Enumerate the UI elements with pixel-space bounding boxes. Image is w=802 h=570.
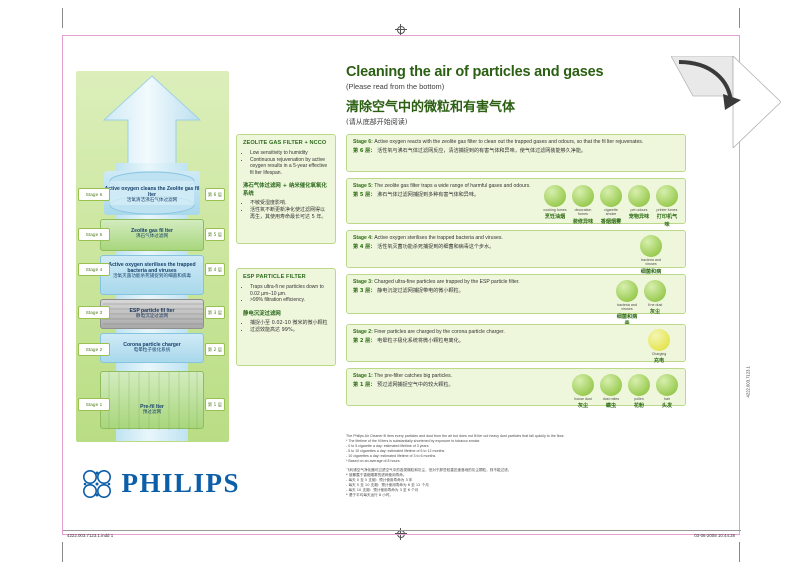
plate-label-cn-1: 预过滤网: [101, 410, 203, 415]
hair-icon: [656, 374, 678, 396]
stage-5-text-cn: 沸石气体过滤网捕捉到多种有害气体和异味。: [377, 192, 479, 198]
plate-label-cn-4: 活氧灭菌功能杀死捕捉到的细菌和病毒: [101, 274, 203, 279]
stage-1-cn: 第 1 层： 预过滤网捕捉空气中的较大颗粒。: [353, 382, 558, 390]
stage-4-number-en: Stage 4:: [353, 235, 373, 241]
stage-3-icons: bacteria and viruses细菌和病毒 fi ne dust灰尘: [615, 280, 667, 329]
icon-caption: dust mites螨虫: [599, 397, 623, 411]
stage-box-3: Stage 3: Charged ultra-fine particles ar…: [346, 274, 686, 314]
stage-3-text-en: Charged ultra-fine particles are trapped…: [374, 279, 519, 285]
philips-wordmark: PHILIPS: [121, 468, 240, 498]
icon-cell: cigarette smoke香烟烟雾: [599, 185, 623, 230]
cigarette-smoke-icon: [600, 185, 622, 207]
fine-dust-icon: [644, 280, 666, 302]
bacteria-viruses-icon: [640, 235, 662, 257]
callout-title-esp: ESP PARTICLE FILTER: [243, 274, 329, 280]
stage-6-text-cn: 活性氧与沸石气体过滤网反应，清洁捕捉到的有害气体和异味，使气体过滤网装能够久净能…: [377, 148, 586, 154]
icon-cell: cooking fumes烹饪油烟: [543, 185, 567, 230]
house-dust-icon: [572, 374, 594, 396]
crop-mark-top-left: [62, 8, 63, 28]
stage-2-number-en: Stage 2:: [353, 329, 373, 335]
print-date: 03-06-2008 10:44:28: [694, 533, 735, 538]
list-item: 捕捉小至 0.02-10 微米的微小颗粒: [250, 320, 329, 327]
icon-caption: hair头发: [655, 397, 679, 411]
stage-2-cn: 第 2 层： 电晕粒子极化系统将微小颗粒电离化。: [353, 338, 643, 346]
stage-button-1[interactable]: Stage 1: [78, 398, 110, 411]
philips-logo: PHILIPS: [81, 468, 271, 499]
icon-caption: pet odours宠物异味: [627, 208, 651, 222]
crop-mark-bottom-left: [62, 542, 63, 562]
list-item: >99% filtration efficiency.: [250, 297, 329, 304]
icon-cell: pollen花粉: [627, 374, 651, 411]
stage-box-5: Stage 5: The zeolite gas filter traps a …: [346, 178, 686, 224]
stage-5-cn: 第 5 层： 沸石气体过滤网捕捉到多种有害气体和异味。: [353, 192, 563, 200]
page-fold-decoration: [671, 56, 781, 148]
footnote-line-cn: * 基于平均每天运行 8 小时。: [346, 493, 686, 498]
page-title: Cleaning the air of particles and gases: [346, 64, 691, 80]
icon-caption: fi ne dust灰尘: [643, 303, 667, 317]
list-item: Low sensitivity to humidity: [250, 150, 329, 157]
stage-5-number-cn: 第 5 层：: [353, 192, 375, 198]
stage-6-number-en: Stage 6:: [353, 139, 373, 145]
callout-bullets-zeolite-en: Low sensitivity to humidity Continuous r…: [243, 150, 329, 176]
callout-bullets-zeolite-cn: 不敏受湿度影响. 活性氧不断更新净化使过滤网得以再生，其使用寿命最长可达 5 年…: [243, 200, 329, 221]
stage-box-6: Stage 6: Active oxygen reacts with the z…: [346, 134, 686, 172]
icon-cell: decoration fumes装修异味: [571, 185, 595, 230]
callout-title-zeolite: ZEOLITE GAS FILTER + NCCO: [243, 140, 329, 146]
plate-label-cn-2: 电晕粒子极化系统: [101, 348, 203, 353]
footnotes: The Philips Air Cleaner fil lters every …: [346, 434, 686, 498]
stage-2-en: Stage 2: Finer particles are charged by …: [353, 329, 643, 336]
stage-2-text-en: Finer particles are charged by the coron…: [374, 329, 505, 335]
icon-cell: hair头发: [655, 374, 679, 411]
page-subtitle: (Please read from the bottom): [346, 82, 691, 91]
callout-title-zeolite-cn: 沸石气体过滤网 + 纳米催化氧氧化系统: [243, 181, 329, 197]
print-sheet: Active oxygen cleans the Zeolite gas fil…: [0, 0, 802, 570]
stage-2-icons: Charging充电: [647, 329, 671, 366]
list-item: Continuous rejuvenation by active oxygen…: [250, 157, 329, 177]
stage-box-2: Stage 2: Finer particles are charged by …: [346, 324, 686, 362]
stage-4-text-en: Active oxygen sterilises the trapped bac…: [374, 235, 503, 241]
stage-button-cn-1[interactable]: 第 1 层: [205, 398, 225, 411]
dust-mites-icon: [600, 374, 622, 396]
plate-label-cn-3: 静电沉淀过滤网: [101, 314, 203, 319]
stage-button-cn-6[interactable]: 第 6 层: [205, 188, 225, 201]
stage-4-number-cn: 第 4 层：: [353, 244, 375, 250]
airflow-arrow-icon: [100, 74, 204, 174]
crop-mark-top-right: [739, 8, 740, 28]
stage-button-2[interactable]: Stage 2: [78, 343, 110, 356]
stage-button-4[interactable]: Stage 4: [78, 263, 110, 276]
bacteria-viruses-icon: [616, 280, 638, 302]
callout-title-esp-cn: 静电沉淀过滤网: [243, 309, 329, 317]
stage-1-en: Stage 1: The pre-filter catches big part…: [353, 373, 558, 380]
icon-cell: bacteria and viruses细菌和病毒: [615, 280, 639, 329]
stage-button-cn-4[interactable]: 第 4 层: [205, 263, 225, 276]
stage-button-5[interactable]: Stage 5: [78, 228, 110, 241]
print-rule: [63, 530, 741, 531]
callout-zeolite-cn: 沸石气体过滤网 + 纳米催化氧氧化系统 不敏受湿度影响. 活性氧不断更新净化使过…: [243, 181, 329, 221]
stage-6-en: Stage 6: Active oxygen reacts with the z…: [353, 139, 679, 146]
stage-1-icons: house dust灰尘 dust mites螨虫 pollen花粉 hair头…: [571, 374, 679, 411]
stage-3-number-cn: 第 3 层：: [353, 288, 375, 294]
callout-bullets-esp-en: Traps ultra-fi ne particles down to 0.02…: [243, 284, 329, 304]
stage-button-cn-5[interactable]: 第 5 层: [205, 228, 225, 241]
icon-caption: cigarette smoke香烟烟雾: [599, 208, 623, 226]
icon-cell: Charging充电: [647, 329, 671, 366]
stage-2-number-cn: 第 2 层：: [353, 338, 375, 344]
decoration-fumes-icon: [572, 185, 594, 207]
stage-4-en: Stage 4: Active oxygen sterilises the tr…: [353, 235, 603, 242]
page-subtitle-cn: (请从底部开始阅读): [346, 117, 691, 127]
stage-5-number-en: Stage 5:: [353, 183, 373, 189]
filter-plate-stage2: Corona particle charger 电晕粒子极化系统: [100, 333, 204, 363]
icon-caption: cooking fumes烹饪油烟: [543, 208, 567, 222]
pollen-icon: [628, 374, 650, 396]
stage-button-cn-3[interactable]: 第 3 层: [205, 306, 225, 319]
pet-odours-icon: [628, 185, 650, 207]
stage-button-6[interactable]: Stage 6: [78, 188, 110, 201]
plate-label-en-6: Active oxygen cleans the Zeolite gas fil…: [104, 186, 200, 198]
cooking-fumes-icon: [544, 185, 566, 207]
print-side-code: 4222.003.7123.1: [745, 366, 750, 397]
filter-stack-panel: Active oxygen cleans the Zeolite gas fil…: [76, 71, 229, 442]
plate-label-cn-5: 沸石气体过滤网: [101, 234, 203, 239]
stage-4-text-cn: 活性氧灭菌功能杀死捕捉到的细菌和病毒这个步水。: [377, 244, 494, 250]
list-item: 活性氧不断更新净化使过滤网得以再生，其使用寿命最长可达 5 年。: [250, 207, 329, 221]
callout-esp: ESP PARTICLE FILTER Traps ultra-fi ne pa…: [236, 268, 336, 366]
icon-caption: pollen花粉: [627, 397, 651, 411]
stage-1-number-en: Stage 1:: [353, 373, 373, 379]
icon-caption: house dust灰尘: [571, 397, 595, 411]
page-title-cn: 清除空气中的微粒和有害气体: [346, 96, 691, 115]
print-file-name: 4222.003.7123.1.indd 1: [67, 533, 113, 538]
icon-caption: printer fumes打印机气味: [655, 208, 679, 230]
stage-5-en: Stage 5: The zeolite gas filter traps a …: [353, 183, 563, 190]
filter-plate-stage6: Active oxygen cleans the Zeolite gas fil…: [104, 171, 200, 215]
icon-cell: fi ne dust灰尘: [643, 280, 667, 329]
stage-6-number-cn: 第 6 层：: [353, 148, 375, 154]
filter-plate-stage5: Zeolite gas fil lter 沸石气体过滤网: [100, 219, 204, 251]
filter-plate-stage4: Active oxygen sterilises the trapped bac…: [100, 255, 204, 295]
crop-mark-bottom-right: [739, 542, 740, 562]
stage-4-cn: 第 4 层： 活性氧灭菌功能杀死捕捉到的细菌和病毒这个步水。: [353, 244, 603, 252]
stage-3-cn: 第 3 层： 静电沉淀过滤网捕捉带电的微小颗粒。: [353, 288, 608, 296]
page-title-block: Cleaning the air of particles and gases …: [346, 64, 691, 127]
callout-bullets-esp-cn: 捕捉小至 0.02-10 微米的微小颗粒 过滤效能高达 99%。: [243, 320, 329, 334]
list-item: 过滤效能高达 99%。: [250, 327, 329, 334]
stage-6-cn: 第 6 层： 活性氧与沸石气体过滤网反应，清洁捕捉到的有害气体和异味，使气体过滤…: [353, 148, 679, 156]
stage-6-text-en: Active oxygen reacts with the zeolite ga…: [374, 139, 643, 145]
icon-cell: dust mites螨虫: [599, 374, 623, 411]
icon-cell: house dust灰尘: [571, 374, 595, 411]
printer-fumes-icon: [656, 185, 678, 207]
plate-label-en-4: Active oxygen sterilises the trapped bac…: [101, 262, 203, 274]
stage-button-cn-2[interactable]: 第 2 层: [205, 343, 225, 356]
filter-plate-stage3: ESP particle fil lter 静电沉淀过滤网: [100, 299, 204, 329]
stage-box-1: Stage 1: The pre-filter catches big part…: [346, 368, 686, 406]
stage-1-text-en: The pre-filter catches big particles.: [374, 373, 452, 379]
callout-esp-cn: 静电沉淀过滤网 捕捉小至 0.02-10 微米的微小颗粒 过滤效能高达 99%。: [243, 309, 329, 334]
callout-zeolite: ZEOLITE GAS FILTER + NCCO Low sensitivit…: [236, 134, 336, 244]
icon-caption: Charging充电: [647, 352, 671, 366]
stage-3-text-cn: 静电沉淀过滤网捕捉带电的微小颗粒。: [377, 288, 464, 294]
stage-5-text-en: The zeolite gas filter traps a wide rang…: [374, 183, 530, 189]
icon-cell: pet odours宠物异味: [627, 185, 651, 230]
stage-button-3[interactable]: Stage 3: [78, 306, 110, 319]
stage-1-number-cn: 第 1 层：: [353, 382, 375, 388]
plate-label-cn-6: 活氧清洁沸石气体过滤网: [104, 198, 200, 203]
list-item: Traps ultra-fi ne particles down to 0.02…: [250, 284, 329, 297]
stage-3-number-en: Stage 3:: [353, 279, 373, 285]
filter-plate-stage1: Pre-fil lter 预过滤网: [100, 371, 204, 429]
stage-5-icons: cooking fumes烹饪油烟 decoration fumes装修异味 c…: [543, 185, 679, 230]
stage-3-en: Stage 3: Charged ultra-fine particles ar…: [353, 279, 608, 286]
artboard: Active oxygen cleans the Zeolite gas fil…: [62, 35, 740, 535]
philips-shield-icon: [81, 469, 113, 499]
stage-box-4: Stage 4: Active oxygen sterilises the tr…: [346, 230, 686, 268]
stage-1-text-cn: 预过滤网捕捉空气中的较大颗粒。: [377, 382, 453, 388]
icon-caption: decoration fumes装修异味: [571, 208, 595, 226]
stage-2-text-cn: 电晕粒子极化系统将微小颗粒电离化。: [377, 338, 464, 344]
icon-cell: printer fumes打印机气味: [655, 185, 679, 230]
charging-icon: [648, 329, 670, 351]
